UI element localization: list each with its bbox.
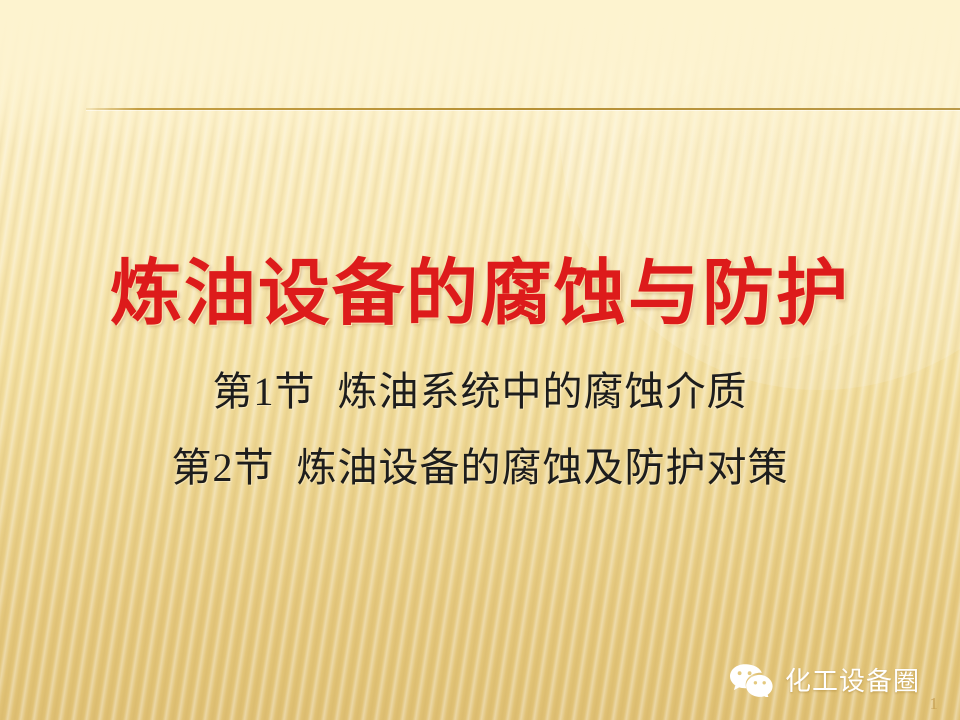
slide-title: 炼油设备的腐蚀与防护 bbox=[0, 258, 960, 330]
watermark-text: 化工设备圈 bbox=[785, 661, 920, 698]
wechat-icon bbox=[729, 663, 775, 697]
subtitle-2-section: 第2节 bbox=[172, 445, 275, 490]
subtitle-2-text: 炼油设备的腐蚀及防护对策 bbox=[297, 446, 789, 490]
subtitle-1-section: 第1节 bbox=[213, 369, 316, 414]
presentation-slide: 炼油设备的腐蚀与防护 第1节炼油系统中的腐蚀介质 第2节炼油设备的腐蚀及防护对策… bbox=[0, 0, 960, 720]
page-number: 1 bbox=[930, 694, 939, 714]
watermark: 化工设备圈 bbox=[729, 661, 920, 698]
header-divider-rule bbox=[86, 108, 960, 110]
background-top-fade bbox=[0, 0, 960, 150]
slide-subtitle-2: 第2节炼油设备的腐蚀及防护对策 bbox=[0, 448, 960, 488]
subtitle-1-text: 炼油系统中的腐蚀介质 bbox=[338, 370, 748, 414]
slide-subtitle-1: 第1节炼油系统中的腐蚀介质 bbox=[0, 372, 960, 412]
